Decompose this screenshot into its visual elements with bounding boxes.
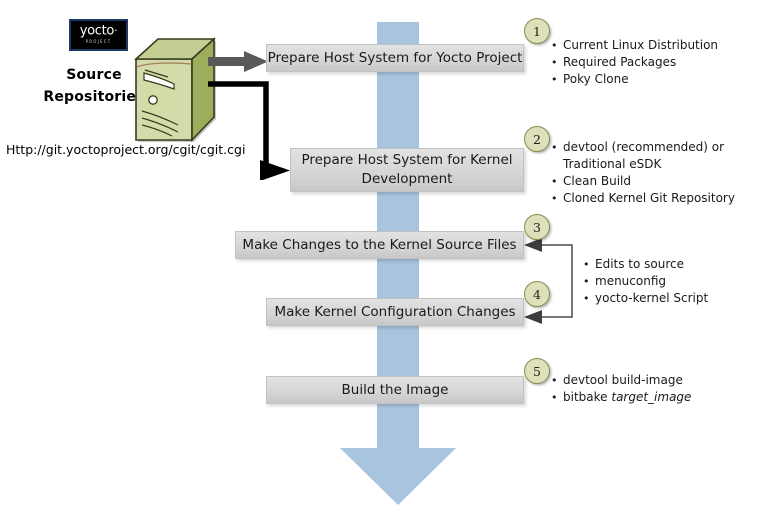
yocto-logo-subtext: PROJECT bbox=[86, 39, 112, 45]
bullet-list-steps-3-4: Edits to source menuconfig yocto-kernel … bbox=[583, 256, 708, 307]
bullet-list-step-2: devtool (recommended) or Traditional eSD… bbox=[551, 139, 735, 207]
server-tower-icon bbox=[134, 37, 216, 142]
step-number-badge-3: 3 bbox=[524, 214, 550, 240]
diagram-canvas: yocto· PROJECT Source Repositories Http:… bbox=[0, 0, 769, 517]
bitbake-target-arg: target_image bbox=[611, 390, 691, 404]
list-item: devtool (recommended) or bbox=[551, 139, 735, 156]
box-2-label-line-2: Development bbox=[362, 171, 453, 187]
step-number-badge-4: 4 bbox=[524, 281, 550, 307]
bitbake-command: bitbake bbox=[563, 390, 611, 404]
list-item: Required Packages bbox=[551, 54, 718, 71]
flow-arrowhead-icon bbox=[340, 448, 456, 505]
list-item: menuconfig bbox=[583, 273, 708, 290]
list-item: bitbake target_image bbox=[551, 389, 691, 406]
bullet-list-step-1: Current Linux Distribution Required Pack… bbox=[551, 37, 718, 88]
process-box-prepare-host-yocto[interactable]: Prepare Host System for Yocto Project bbox=[266, 44, 524, 72]
yocto-logo-text: yocto bbox=[80, 24, 114, 39]
yocto-logo-wordmark: yocto· bbox=[80, 25, 118, 38]
step-number-badge-1: 1 bbox=[524, 18, 550, 44]
step-number-badge-2: 2 bbox=[524, 126, 550, 152]
list-item: Cloned Kernel Git Repository bbox=[551, 190, 735, 207]
list-item: Poky Clone bbox=[551, 71, 718, 88]
box-2-label-line-1: Prepare Host System for Kernel bbox=[301, 152, 512, 168]
yocto-logo-dot: · bbox=[114, 24, 117, 37]
list-item: devtool build-image bbox=[551, 372, 691, 389]
process-box-make-kernel-source-changes[interactable]: Make Changes to the Kernel Source Files bbox=[235, 231, 524, 259]
process-box-make-kernel-config-changes[interactable]: Make Kernel Configuration Changes bbox=[266, 298, 524, 326]
list-item-continuation: Traditional eSDK bbox=[551, 156, 735, 173]
box-3-label: Make Changes to the Kernel Source Files bbox=[242, 236, 516, 255]
yocto-project-logo: yocto· PROJECT bbox=[69, 19, 128, 51]
arrow-server-to-step1 bbox=[208, 51, 270, 77]
list-item: Current Linux Distribution bbox=[551, 37, 718, 54]
list-item: Clean Build bbox=[551, 173, 735, 190]
arrow-server-to-step2 bbox=[208, 80, 298, 184]
box-5-label: Build the Image bbox=[342, 381, 449, 400]
box-1-label: Prepare Host System for Yocto Project bbox=[268, 49, 523, 68]
bullet-list-step-5: devtool build-image bitbake target_image bbox=[551, 372, 691, 406]
list-item: Edits to source bbox=[583, 256, 708, 273]
process-box-prepare-host-kernel[interactable]: Prepare Host System for Kernel Developme… bbox=[290, 148, 524, 192]
box-4-label: Make Kernel Configuration Changes bbox=[274, 303, 515, 322]
box-2-label: Prepare Host System for Kernel Developme… bbox=[301, 151, 512, 189]
process-box-build-the-image[interactable]: Build the Image bbox=[266, 376, 524, 404]
bracket-arrows-step3-step4 bbox=[520, 234, 580, 328]
step-number-badge-5: 5 bbox=[524, 358, 550, 384]
list-item: yocto-kernel Script bbox=[583, 290, 708, 307]
